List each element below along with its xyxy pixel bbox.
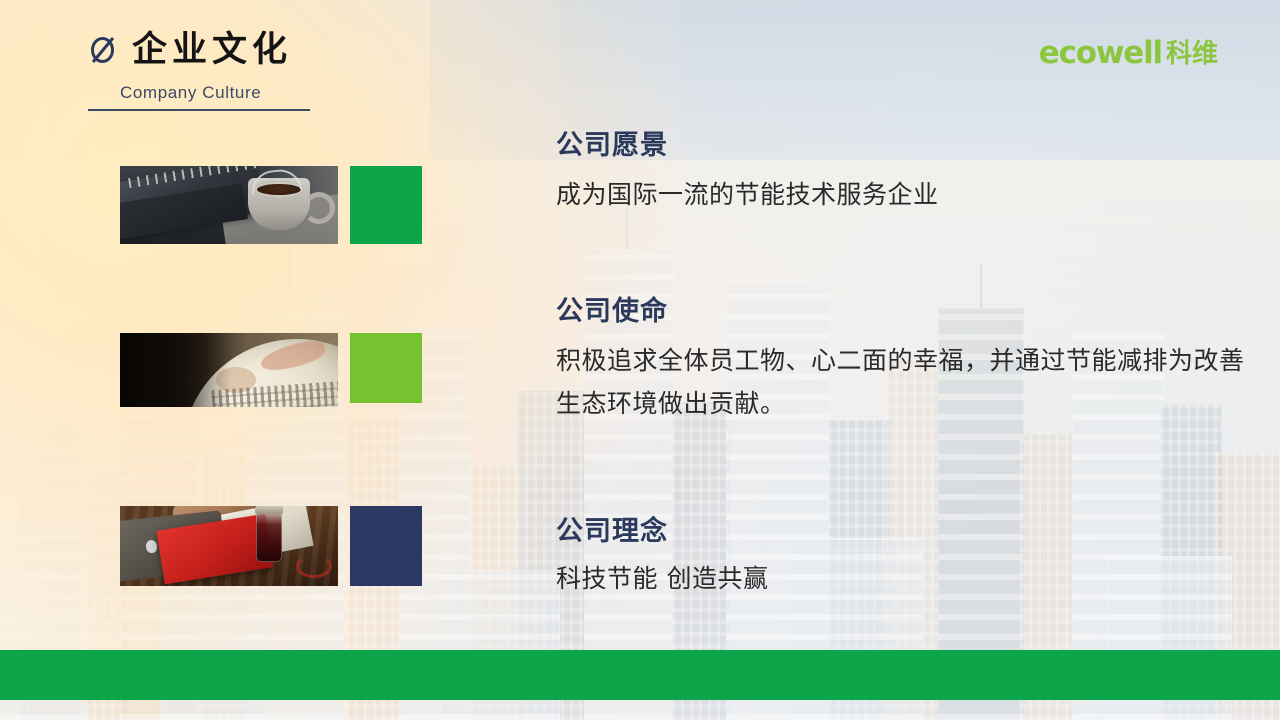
media-row-2 [120, 333, 422, 407]
block-body-philosophy: 科技节能 创造共赢 [556, 557, 768, 600]
brand-wordmark-cn: 科维 [1166, 41, 1218, 67]
navy-swatch [350, 506, 422, 586]
footer-bar [0, 650, 1280, 700]
slide-header: 企业文化 Company Culture [88, 26, 418, 111]
slide-canvas: 企业文化 Company Culture ecowell 科维 [0, 0, 1280, 720]
block-body-mission: 积极追求全体员工物、心二面的幸福，并通过节能减排为改善生态环境做出贡献。 [556, 339, 1246, 425]
block-title-mission: 公司使命 [556, 296, 1246, 327]
title-row: 企业文化 [88, 26, 418, 74]
content-block-mission: 公司使命 积极追求全体员工物、心二面的幸福，并通过节能减排为改善生态环境做出贡献… [556, 296, 1246, 425]
notebook-coffee-photo [120, 166, 338, 244]
media-row-1 [120, 166, 422, 244]
brand-logo: ecowell 科维 [1039, 38, 1218, 69]
block-title-vision: 公司愿景 [556, 130, 939, 161]
media-row-3 [120, 506, 422, 586]
page-title: 企业文化 [132, 33, 292, 68]
diameter-slashed-circle-icon [88, 34, 118, 66]
page-subtitle: Company Culture [88, 83, 418, 103]
light-green-swatch [350, 333, 422, 403]
brand-wordmark: ecowell [1039, 38, 1162, 69]
block-title-philosophy: 公司理念 [556, 516, 768, 547]
globe-map-photo [120, 333, 338, 407]
laptop-red-notebook-photo [120, 506, 338, 586]
content-block-vision: 公司愿景 成为国际一流的节能技术服务企业 [556, 130, 939, 216]
content-block-philosophy: 公司理念 科技节能 创造共赢 [556, 516, 768, 600]
block-body-vision: 成为国际一流的节能技术服务企业 [556, 173, 939, 216]
green-swatch [350, 166, 422, 244]
title-underline [88, 109, 310, 111]
